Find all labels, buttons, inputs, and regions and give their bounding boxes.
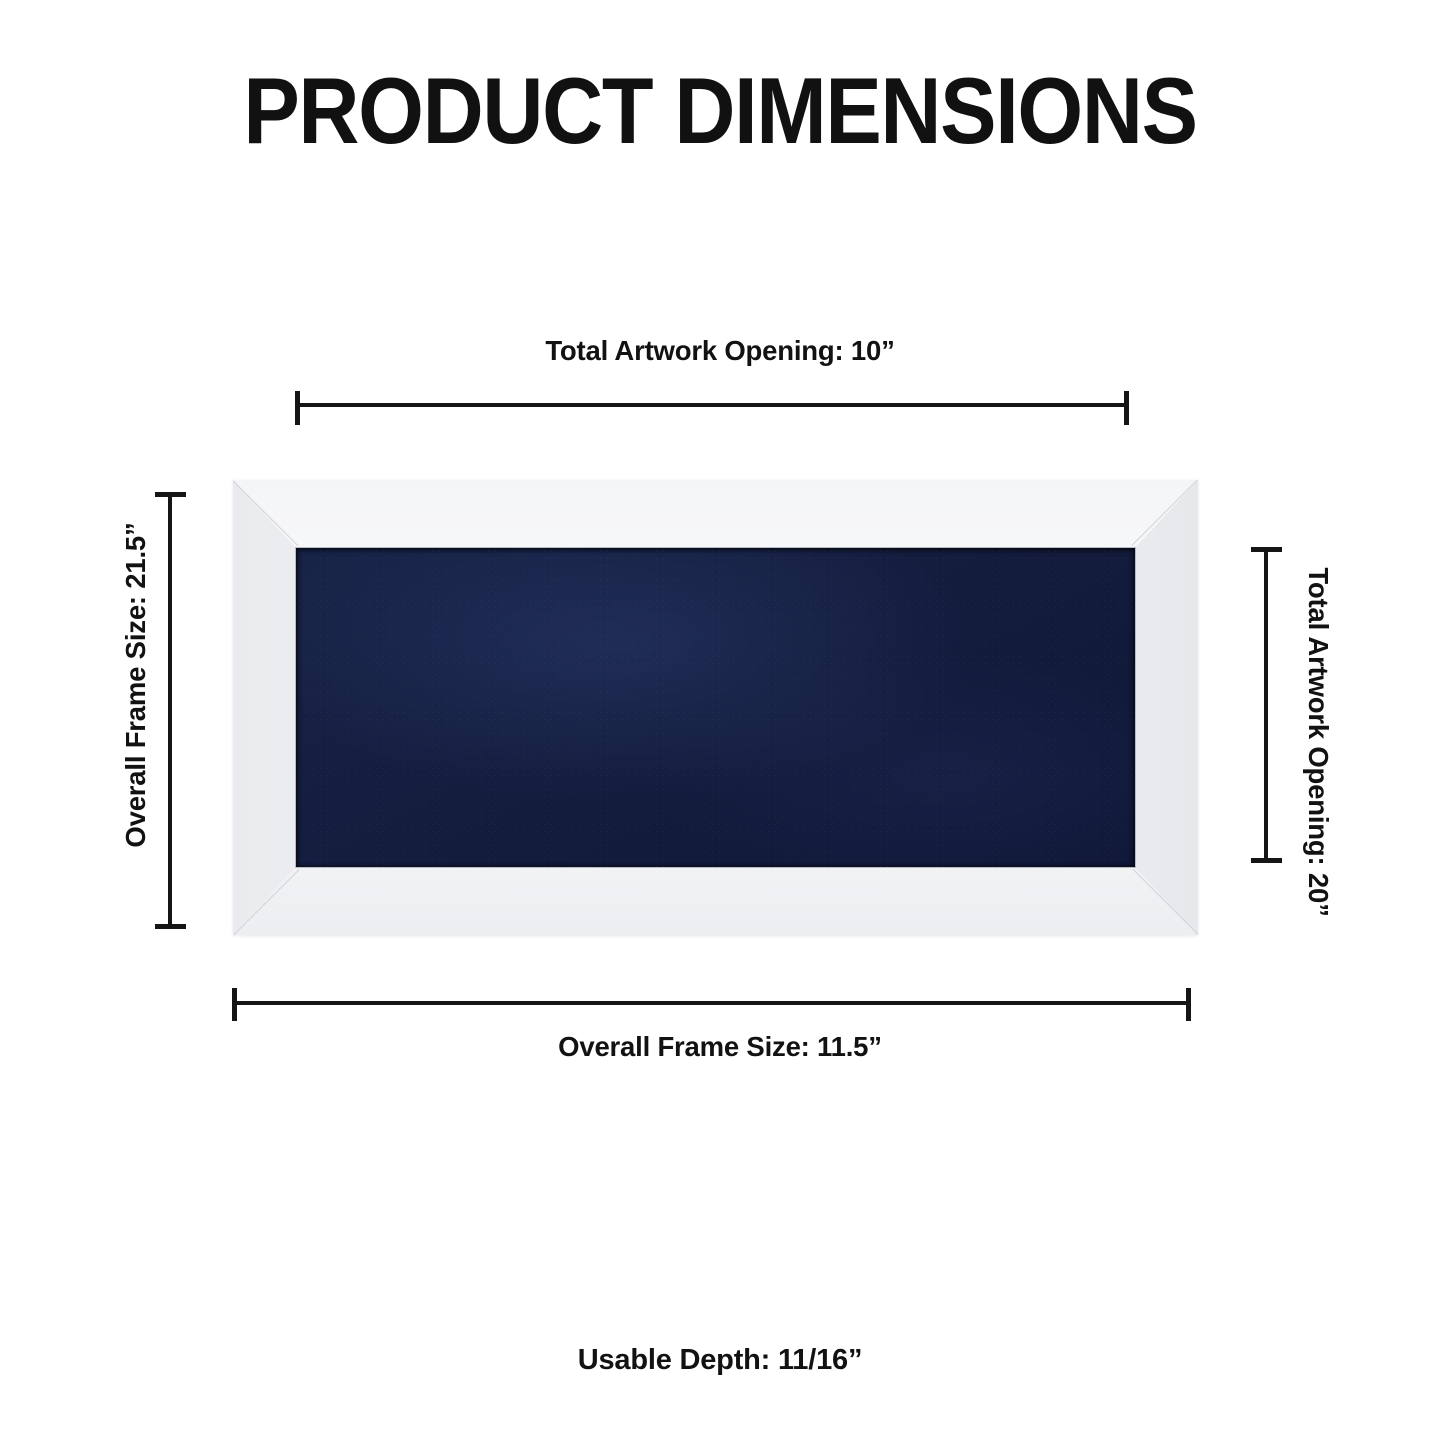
right-dimension-line [1264, 549, 1268, 862]
bottom-dimension-line [234, 1001, 1190, 1005]
right-dimension-endcap-top [1251, 547, 1282, 552]
bottom-dimension-label: Overall Frame Size: 11.5” [0, 1031, 1440, 1063]
bottom-dimension-endcap-right [1186, 988, 1191, 1021]
bottom-dimension-endcap-left [232, 988, 237, 1021]
left-dimension-endcap-bottom [155, 924, 186, 929]
page-title: PRODUCT DIMENSIONS [72, 62, 1368, 161]
left-dimension-label: Overall Frame Size: 21.5” [120, 425, 162, 945]
top-dimension-endcap-right [1124, 391, 1129, 425]
right-dimension-label: Total Artwork Opening: 20” [1292, 452, 1334, 1032]
product-dimensions-page: PRODUCT DIMENSIONS Total Artwork Opening… [0, 0, 1440, 1440]
picture-frame [233, 480, 1198, 935]
left-dimension-line [168, 494, 172, 928]
artwork-opening [296, 548, 1135, 867]
top-dimension-label: Total Artwork Opening: 10” [0, 335, 1440, 367]
top-dimension-endcap-left [295, 391, 300, 425]
left-dimension-endcap-top [155, 492, 186, 497]
top-dimension-line [297, 403, 1128, 407]
right-dimension-endcap-bottom [1251, 858, 1282, 863]
usable-depth-label: Usable Depth: 11/16” [0, 1344, 1440, 1377]
